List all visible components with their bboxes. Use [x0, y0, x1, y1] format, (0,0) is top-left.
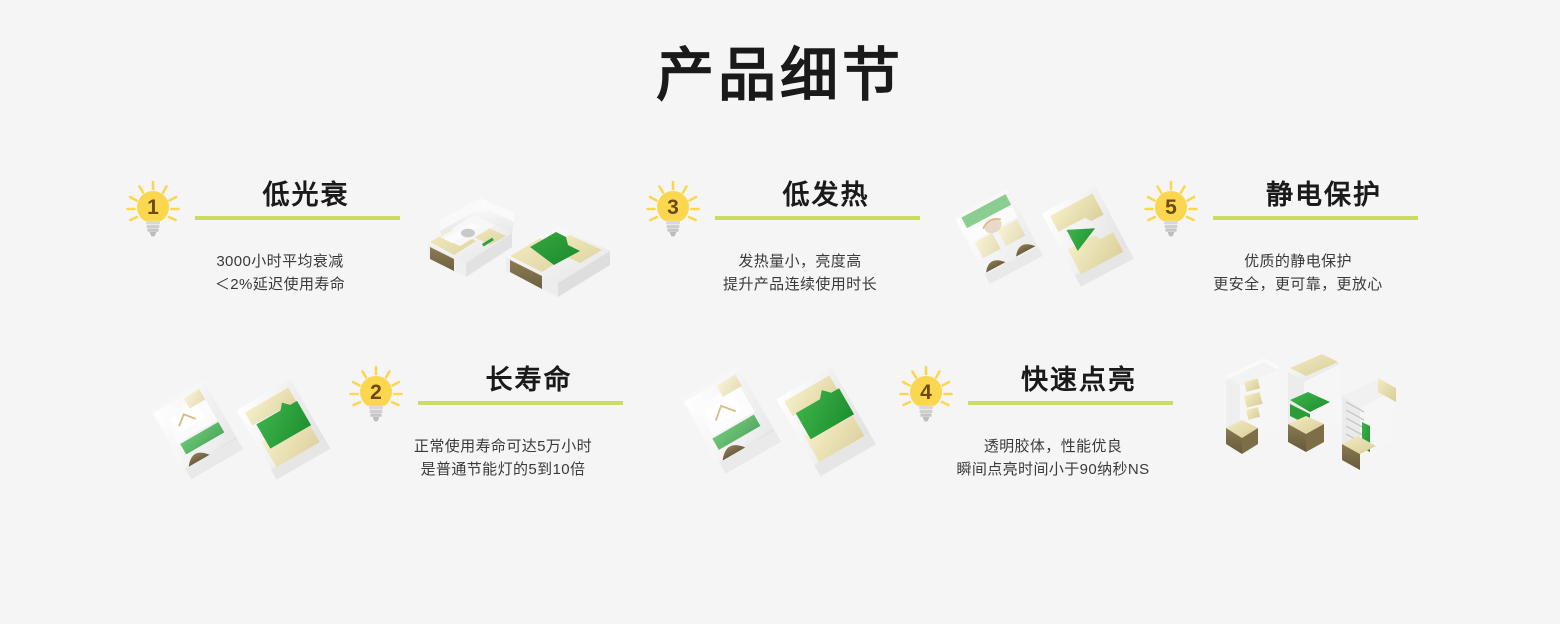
lightbulb-icon: 1 [125, 180, 181, 242]
feature-desc-line-2: ＜2%延迟使用寿命 [135, 273, 425, 296]
lightbulb-icon: 2 [348, 365, 404, 427]
title-underline-bar [195, 216, 400, 220]
feature-block-2: 2 长寿命 正常使用寿命可达5万小时 是普通节能灯的5到10倍 [348, 365, 648, 427]
bulb-number: 4 [920, 381, 932, 404]
feature-head: 3 低发热 [645, 180, 945, 242]
lightbulb-icon: 4 [898, 365, 954, 427]
feature-description: 发热量小，亮度高 提升产品连续使用时长 [655, 250, 945, 296]
feature-head: 1 低光衰 [125, 180, 425, 242]
led-chip-trio-5 [1212, 352, 1412, 477]
feature-desc-line-2: 是普通节能灯的5到10倍 [358, 458, 648, 481]
title-underline-bar [1213, 216, 1418, 220]
feature-title: 低光衰 [187, 178, 425, 212]
feature-desc-line-1: 透明胶体，性能优良 [908, 435, 1198, 458]
feature-desc-line-1: 优质的静电保护 [1153, 250, 1443, 273]
feature-description: 正常使用寿命可达5万小时 是普通节能灯的5到10倍 [358, 435, 648, 481]
feature-title: 长寿命 [410, 363, 648, 397]
title-underline-bar [715, 216, 920, 220]
lightbulb-icon: 5 [1143, 180, 1199, 242]
title-underline-bar [968, 401, 1173, 405]
feature-head: 2 长寿命 [348, 365, 648, 427]
feature-head: 5 静电保护 [1143, 180, 1443, 242]
bulb-number: 5 [1165, 196, 1177, 219]
feature-block-1: 1 低光衰 3000小时平均衰减 ＜2%延迟使用寿命 [125, 180, 425, 242]
feature-block-3: 3 低发热 发热量小，亮度高 提升产品连续使用时长 [645, 180, 945, 242]
feature-desc-line-1: 发热量小，亮度高 [655, 250, 945, 273]
feature-desc-line-2: 提升产品连续使用时长 [655, 273, 945, 296]
feature-block-5: 5 静电保护 优质的静电保护 更安全，更可靠，更放心 [1143, 180, 1443, 242]
led-chip-pair-1 [420, 185, 620, 300]
feature-title: 快速点亮 [960, 363, 1198, 397]
feature-desc-line-1: 正常使用寿命可达5万小时 [358, 435, 648, 458]
feature-desc-line-2: 更安全，更可靠，更放心 [1153, 273, 1443, 296]
feature-desc-line-2: 瞬间点亮时间小于90纳秒NS [908, 458, 1198, 481]
bulb-number: 3 [667, 196, 679, 219]
feature-desc-line-1: 3000小时平均衰减 [135, 250, 425, 273]
page-title: 产品细节 [0, 42, 1560, 110]
led-chip-pair-2 [150, 362, 340, 477]
feature-title: 静电保护 [1205, 178, 1443, 212]
bulb-number: 2 [370, 381, 382, 404]
feature-block-4: 4 快速点亮 透明胶体，性能优良 瞬间点亮时间小于90纳秒NS [898, 365, 1198, 427]
title-underline-bar [418, 401, 623, 405]
feature-description: 3000小时平均衰减 ＜2%延迟使用寿命 [135, 250, 425, 296]
bulb-number: 1 [147, 196, 159, 219]
led-chip-pair-4 [680, 352, 880, 477]
led-chip-pair-3 [948, 160, 1138, 285]
feature-description: 优质的静电保护 更安全，更可靠，更放心 [1153, 250, 1443, 296]
feature-head: 4 快速点亮 [898, 365, 1198, 427]
product-detail-infographic: 产品细节 [0, 0, 1560, 624]
lightbulb-icon: 3 [645, 180, 701, 242]
feature-title: 低发热 [707, 178, 945, 212]
feature-description: 透明胶体，性能优良 瞬间点亮时间小于90纳秒NS [908, 435, 1198, 481]
